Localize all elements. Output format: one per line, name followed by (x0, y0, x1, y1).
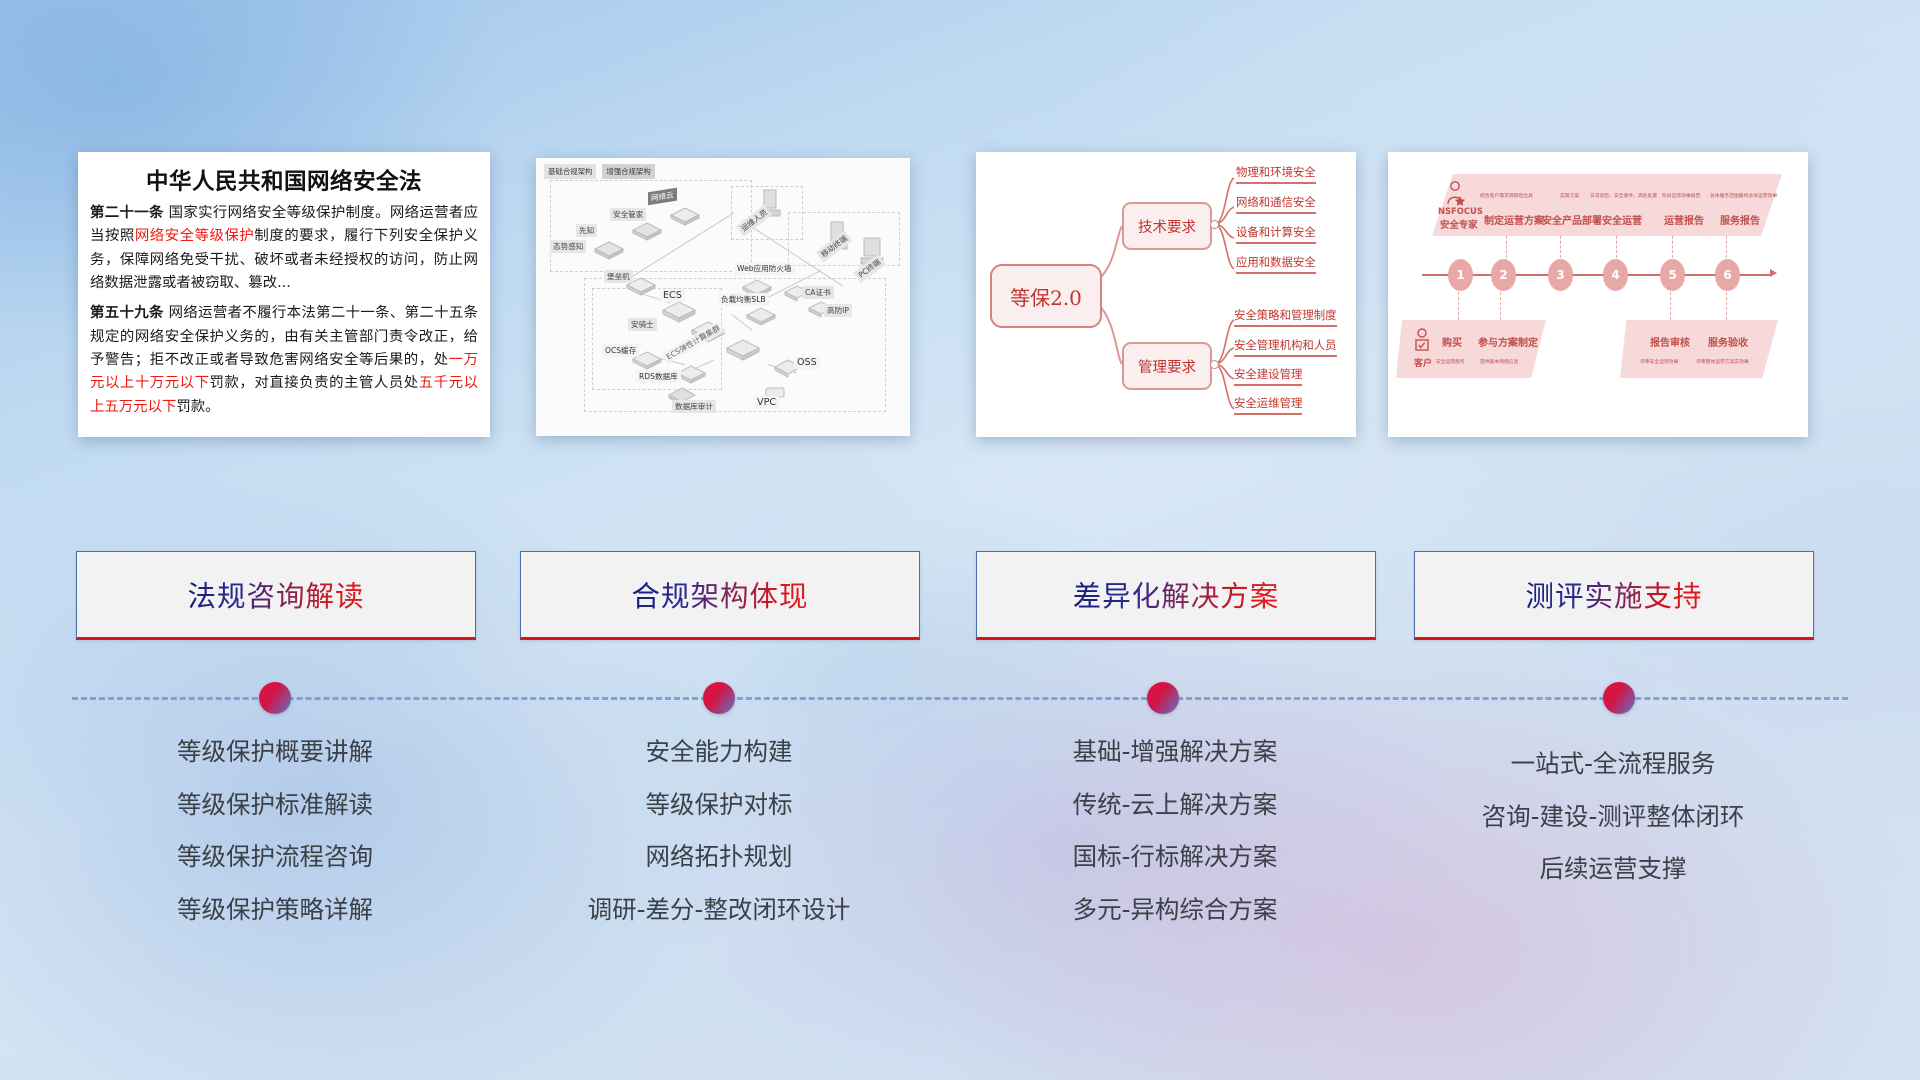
list-item: 传统-云上解决方案 (976, 793, 1374, 818)
list-item: 咨询-建设-测评整体闭环 (1414, 805, 1812, 830)
heading-box-architecture[interactable]: 合规架构体现 (520, 551, 920, 640)
heading-label: 差异化解决方案 (1073, 574, 1280, 615)
timeline-dot[interactable] (259, 682, 291, 714)
list-item: 等级保护概要讲解 (76, 740, 474, 765)
list-item: 等级保护标准解读 (76, 793, 474, 818)
list-item: 等级保护策略详解 (76, 898, 474, 923)
timeline-dot[interactable] (1147, 682, 1179, 714)
heading-box-regulation[interactable]: 法规咨询解读 (76, 551, 476, 640)
bullet-column-architecture: 安全能力构建 等级保护对标 网络拓扑规划 调研-差分-整改闭环设计 (520, 740, 918, 950)
timeline-dot[interactable] (1603, 682, 1635, 714)
list-item: 基础-增强解决方案 (976, 740, 1374, 765)
list-item: 等级保护流程咨询 (76, 845, 474, 870)
heading-row: 法规咨询解读 合规架构体现 差异化解决方案 测评实施支持 等级保护概要讲解 等级… (0, 0, 1920, 1080)
heading-label: 法规咨询解读 (187, 574, 364, 615)
heading-box-solution[interactable]: 差异化解决方案 (976, 551, 1376, 640)
list-item: 网络拓扑规划 (520, 845, 918, 870)
list-item: 多元-异构综合方案 (976, 898, 1374, 923)
list-item: 国标-行标解决方案 (976, 845, 1374, 870)
list-item: 安全能力构建 (520, 740, 918, 765)
list-item: 调研-差分-整改闭环设计 (520, 898, 918, 923)
bullet-column-evaluation: 一站式-全流程服务 咨询-建设-测评整体闭环 后续运营支撑 (1414, 752, 1812, 910)
heading-box-evaluation[interactable]: 测评实施支持 (1414, 551, 1814, 640)
heading-label: 测评实施支持 (1525, 574, 1702, 615)
list-item: 后续运营支撑 (1414, 857, 1812, 882)
list-item: 等级保护对标 (520, 793, 918, 818)
list-item: 一站式-全流程服务 (1414, 752, 1812, 777)
heading-label: 合规架构体现 (631, 574, 808, 615)
timeline-dashed-line (72, 697, 1848, 700)
timeline-dot[interactable] (703, 682, 735, 714)
bullet-column-solution: 基础-增强解决方案 传统-云上解决方案 国标-行标解决方案 多元-异构综合方案 (976, 740, 1374, 950)
bullet-column-regulation: 等级保护概要讲解 等级保护标准解读 等级保护流程咨询 等级保护策略详解 (76, 740, 474, 950)
